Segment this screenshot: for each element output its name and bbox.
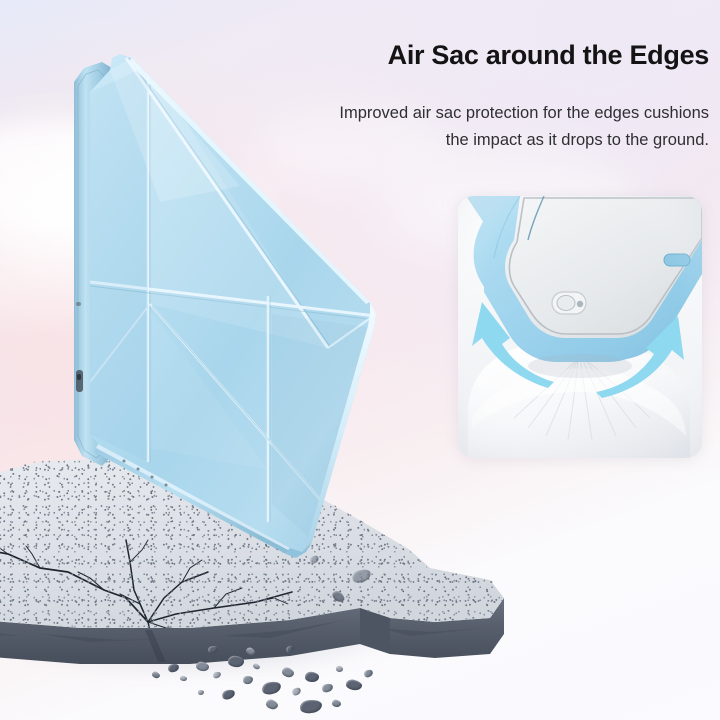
tablet-case-product	[40, 52, 390, 612]
product-feature-slide: Air Sac around the Edges Improved air sa…	[0, 0, 720, 720]
air-sac-detail-inset	[458, 196, 702, 458]
debris-chunk	[299, 699, 322, 714]
debris-chunk	[221, 688, 236, 701]
debris-chunk	[331, 699, 342, 708]
debris-chunk	[321, 683, 334, 694]
debris-chunk	[261, 680, 282, 696]
debris-chunk	[265, 698, 280, 711]
side-port-hole	[77, 374, 81, 380]
debris-chunk	[291, 686, 302, 697]
inset-vignette	[458, 196, 702, 458]
side-port-cutout	[76, 370, 83, 392]
side-button	[76, 302, 81, 306]
debris-chunk	[198, 690, 204, 695]
